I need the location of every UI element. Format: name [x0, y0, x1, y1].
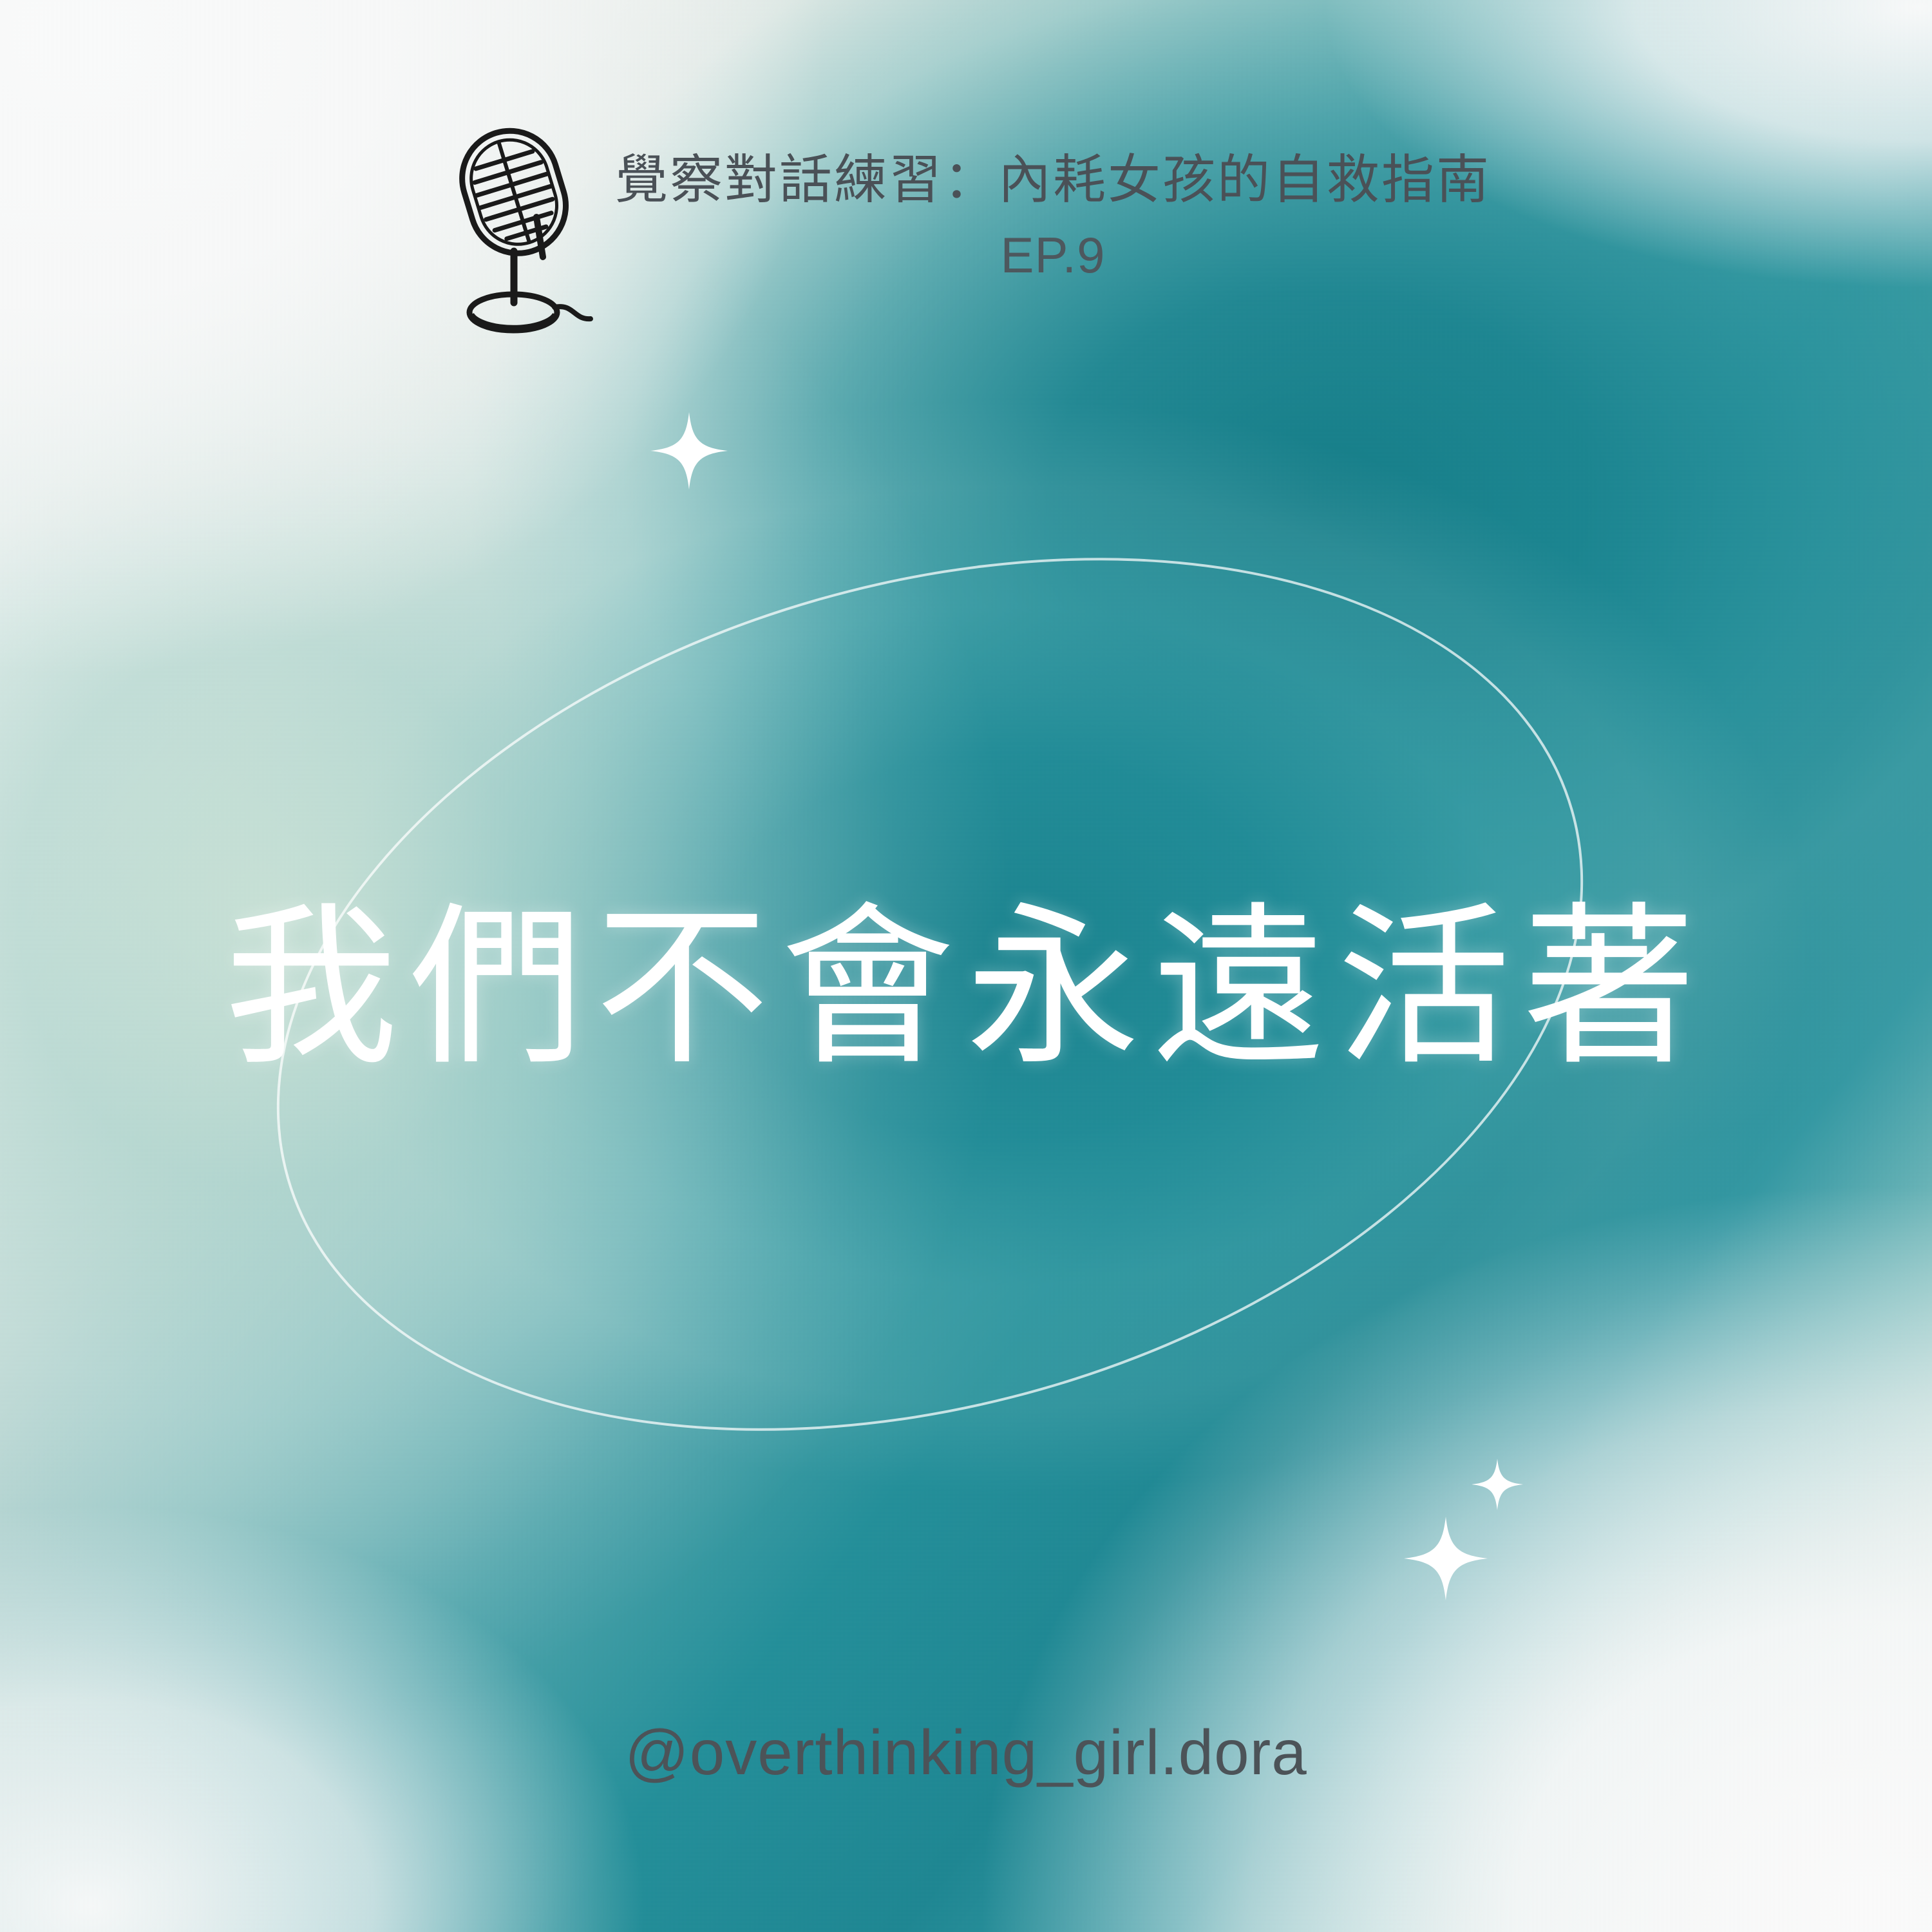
podcast-cover-canvas: 覺察對話練習：內耗女孩的自救指南 EP.9 我們不會永遠活著 @overthin… [0, 0, 1932, 1932]
sparkle-star-icon [1472, 1459, 1523, 1510]
social-handle: @overthinking_girl.dora [0, 1716, 1932, 1789]
show-title: 覺察對話練習：內耗女孩的自救指南 [615, 151, 1491, 209]
episode-headline: 我們不會永遠活著 [0, 902, 1932, 1075]
header: 覺察對話練習：內耗女孩的自救指南 EP.9 [0, 132, 1932, 351]
sparkle-star-icon [650, 412, 728, 489]
header-text-block: 覺察對話練習：內耗女孩的自救指南 EP.9 [615, 151, 1491, 285]
vintage-microphone-icon [441, 119, 602, 351]
sparkle-star-icon [1404, 1517, 1488, 1600]
episode-label: EP.9 [1000, 226, 1105, 285]
